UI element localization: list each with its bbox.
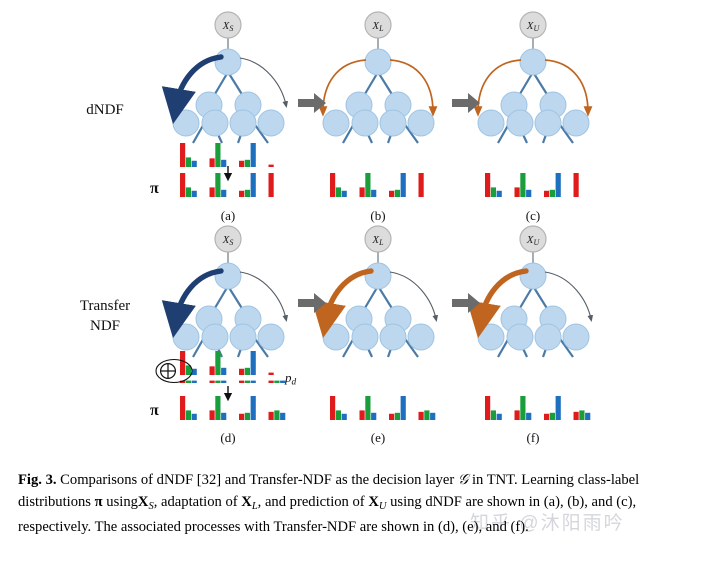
hist-bar [251, 381, 256, 383]
hist-bar [395, 413, 400, 420]
panel-caption-d: (d) [178, 430, 278, 446]
hist-bar [215, 143, 220, 167]
flow-arrow-d-to-e [298, 293, 326, 313]
hist-bar [544, 414, 549, 420]
hist-bar [269, 173, 274, 197]
hist-bar [579, 410, 584, 420]
hist-bar [491, 187, 496, 197]
hist-bar [221, 368, 226, 375]
panel-c-tree: XU [478, 12, 589, 143]
hist-bar [215, 381, 220, 383]
hist-bar [526, 413, 531, 420]
figure-caption-text-1: Comparisons of dNDF [32] and Transfer-ND… [60, 472, 454, 488]
hist-bar [239, 414, 244, 420]
hist-bar [245, 413, 250, 420]
panel-a-leaf-histogram [180, 143, 274, 167]
hist-bar [520, 396, 525, 420]
hist-bar [192, 414, 197, 420]
caption-xl: X [241, 494, 252, 510]
figure-svg: XS XL [0, 0, 712, 462]
hist-bar [556, 396, 561, 420]
pi-symbol-a: π [150, 180, 159, 197]
hist-bar [550, 190, 555, 197]
hist-bar [186, 187, 191, 197]
row-label-dndf: dNDF [50, 100, 160, 120]
figure-caption: Fig. 3. Comparisons of dNDF [32] and Tra… [18, 470, 694, 538]
hist-bar [515, 410, 520, 420]
hist-bar [365, 396, 370, 420]
hist-bar [485, 396, 490, 420]
flow-arrow-b-to-c [452, 93, 480, 113]
hist-bar [180, 143, 185, 167]
hist-bar [515, 187, 520, 197]
hist-bar [585, 413, 590, 420]
hist-bar [215, 173, 220, 197]
hist-bar [389, 191, 394, 197]
panel-caption-c: (c) [483, 208, 583, 224]
hist-bar [401, 173, 406, 197]
panel-a-pi-histogram [180, 173, 274, 197]
hist-bar [336, 187, 341, 197]
hist-bar [520, 173, 525, 197]
hist-bar [424, 410, 429, 420]
panel-f-tree: XU [478, 226, 591, 357]
row-label-transfer-ndf: Transfer NDF [50, 296, 160, 336]
figure-caption-text-3: using [106, 494, 138, 510]
hist-bar [269, 381, 274, 383]
pd-subscript: d [292, 378, 297, 388]
hist-bar [269, 412, 274, 420]
hist-bar [221, 160, 226, 167]
hist-bar [180, 351, 185, 375]
panel-caption-a: (a) [178, 208, 278, 224]
panel-caption-f: (f) [483, 430, 583, 446]
hist-bar [280, 413, 285, 420]
hist-bar [574, 412, 579, 420]
panel-b-leaf-histogram [330, 173, 424, 197]
hist-bar [365, 173, 370, 197]
hist-bar [419, 173, 424, 197]
panel-d-pi-histogram [180, 396, 285, 420]
hist-bar [430, 413, 435, 420]
panel-caption-e: (e) [328, 430, 428, 446]
hist-bar [336, 410, 341, 420]
flow-arrow-e-to-f [452, 293, 480, 313]
row-label-transfer-line1: Transfer [80, 298, 130, 314]
hist-bar [544, 191, 549, 197]
hist-bar [342, 191, 347, 197]
script-g-symbol: 𝒢 [458, 472, 468, 488]
panel-c-leaf-histogram [485, 173, 579, 197]
hist-bar [245, 368, 250, 375]
panel-f-leaf-histogram [485, 396, 590, 420]
hist-bar [210, 381, 215, 383]
hist-bar [186, 157, 191, 167]
hist-bar [371, 413, 376, 420]
hist-bar [274, 410, 279, 420]
hist-bar [269, 373, 274, 375]
hist-bar [556, 173, 561, 197]
hist-bar [215, 396, 220, 420]
hist-bar [245, 190, 250, 197]
hist-bar [239, 191, 244, 197]
row-label-transfer-line2: NDF [90, 318, 120, 334]
caption-xu: X [368, 494, 379, 510]
pi-label-panel-d: π [150, 402, 159, 420]
hist-bar [342, 414, 347, 420]
figure-caption-text-4: , adaptation of [154, 494, 238, 510]
hist-bar [251, 143, 256, 167]
hist-bar [215, 351, 220, 375]
panel-b-tree: XL [323, 12, 434, 143]
hist-bar [419, 412, 424, 420]
hist-bar [192, 381, 197, 383]
hist-bar [192, 161, 197, 167]
hist-bar [330, 396, 335, 420]
hist-bar [251, 351, 256, 375]
hist-bar [239, 161, 244, 167]
hist-bar [526, 190, 531, 197]
panel-a-tree: XS [173, 12, 286, 143]
pi-label-panel-a: π [150, 180, 159, 198]
hist-bar [180, 396, 185, 420]
hist-bar [401, 396, 406, 420]
hist-bar [491, 410, 496, 420]
hist-bar [239, 381, 244, 383]
hist-bar [574, 173, 579, 197]
hist-bar [274, 381, 279, 383]
hist-bar [186, 381, 191, 383]
hist-bar [395, 190, 400, 197]
caption-xu-sub: U [379, 500, 387, 511]
hist-bar [210, 366, 215, 375]
caption-xs: X [138, 494, 149, 510]
hist-bar [180, 173, 185, 197]
flow-arrow-a-to-b [298, 93, 326, 113]
figure-canvas: XS XL [0, 0, 712, 462]
hist-bar [210, 158, 215, 167]
hist-bar [550, 413, 555, 420]
panel-d-pd-histogram [180, 381, 285, 383]
hist-bar [251, 396, 256, 420]
figure-caption-label: Fig. 3. [18, 472, 57, 488]
caption-pi-symbol: π [95, 494, 103, 510]
hist-bar [485, 173, 490, 197]
pi-symbol-d: π [150, 402, 159, 419]
hist-bar [245, 160, 250, 167]
figure-caption-text-5: , and prediction of [258, 494, 365, 510]
hist-bar [251, 173, 256, 197]
row-label-dndf-text: dNDF [86, 102, 124, 118]
hist-bar [497, 191, 502, 197]
panel-d-tree: XS [173, 226, 286, 357]
hist-bar [269, 165, 274, 167]
panel-caption-b: (b) [328, 208, 428, 224]
hist-bar [239, 369, 244, 375]
hist-bar [221, 413, 226, 420]
hist-bar [389, 414, 394, 420]
hist-bar [497, 414, 502, 420]
panel-e-leaf-histogram [330, 396, 435, 420]
hist-bar [221, 381, 226, 383]
hist-bar [210, 187, 215, 197]
hist-bar [330, 173, 335, 197]
pd-label: pd [285, 370, 296, 388]
hist-bar [186, 410, 191, 420]
panel-e-tree: XL [323, 226, 436, 357]
hist-bar [371, 190, 376, 197]
hist-bar [192, 191, 197, 197]
hist-bar [360, 410, 365, 420]
hist-bar [360, 187, 365, 197]
hist-bar [221, 190, 226, 197]
hist-bar [245, 381, 250, 383]
hist-bar [210, 410, 215, 420]
